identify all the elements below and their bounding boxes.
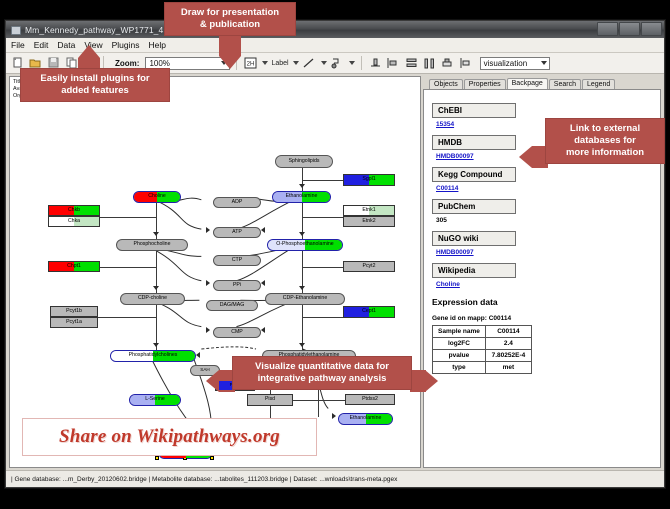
callout-links-arrow — [519, 146, 532, 168]
callout-viz-line2: integrative pathway analysis — [240, 373, 404, 385]
node-label: Pcyt2 — [363, 264, 376, 269]
node-label: Ptdss2 — [362, 397, 378, 402]
node-label: Chkb — [68, 208, 80, 213]
reaction-arcs — [10, 77, 420, 467]
metabolite-node-adp[interactable]: ADP — [213, 197, 261, 208]
arrow-right-ppi — [206, 280, 210, 286]
expression-row-label: log2FC — [433, 338, 486, 350]
callout-links-line1: Link to external — [553, 123, 657, 135]
gene-node-ptdss2[interactable]: Ptdss2 — [345, 394, 395, 405]
callout-draw-stem — [219, 36, 241, 56]
expression-data-title: Expression data — [432, 297, 660, 307]
window-controls — [597, 22, 662, 36]
node-label: ADP — [232, 200, 243, 205]
shape-dropdown-icon[interactable] — [262, 61, 268, 65]
callout-plugins-arrow — [78, 45, 100, 58]
expression-row: pvalue7.80252E-4 — [433, 350, 532, 362]
metabolite-node-cdp-choline[interactable]: CDP-choline — [120, 293, 185, 305]
pathway-canvas-wrap[interactable]: Title: Availa Organi — [9, 76, 421, 468]
metabolite-node-atp[interactable]: ATP — [213, 227, 261, 238]
tab-objects[interactable]: Objects — [429, 79, 463, 89]
visualization-value: visualization — [484, 59, 528, 68]
expression-row-label: type — [433, 362, 486, 374]
callout-links-line2: databases for — [553, 135, 657, 147]
tab-backpage[interactable]: Backpage — [507, 78, 548, 89]
edge-etnk-line — [302, 217, 344, 218]
edge-cept1-line — [302, 317, 344, 318]
menu-data[interactable]: Data — [57, 40, 75, 50]
metabolite-node-cdp-ethanolamine[interactable]: CDP-Ethanolamine — [265, 293, 345, 305]
arrow-left-cmp-e — [261, 327, 265, 333]
expression-row: typemet — [433, 362, 532, 374]
metabolite-node-ppi[interactable]: PPi — [213, 280, 261, 291]
node-label: CDP-Ethanolamine — [283, 296, 327, 301]
visualization-combo[interactable]: visualization — [480, 57, 550, 70]
metabolite-node-sphingolipids[interactable]: Sphingolipids — [275, 155, 333, 168]
callout-viz-stem-right — [410, 370, 426, 392]
node-label: Ethanolamine — [286, 194, 318, 199]
node-label: CTP — [232, 258, 242, 263]
node-label: Cept1 — [362, 309, 376, 314]
node-label: Phosphocholine — [134, 242, 171, 247]
gene-node-pcyt2[interactable]: Pcyt2 — [343, 261, 395, 272]
edge-sgpl1-line — [302, 180, 344, 181]
expression-row: log2FC2.4 — [433, 338, 532, 350]
edge-ptdss2-line — [293, 400, 345, 401]
node-label: L-Serine — [145, 397, 165, 402]
callout-draw: Draw for presentation & publication — [164, 2, 296, 36]
toolbar-separator-3 — [361, 56, 362, 70]
gene-node-etnk1[interactable]: Etnk1 — [343, 205, 395, 216]
distribute-horizontal-icon[interactable] — [422, 56, 437, 71]
callout-viz-line1: Visualize quantitative data for — [240, 361, 404, 373]
expression-row: Sample nameC00114 — [433, 326, 532, 338]
db-value-pubchem: 305 — [436, 217, 660, 224]
node-label: Sphingolipids — [289, 159, 320, 164]
metabolite-node-phosphocholine[interactable]: Phosphocholine — [116, 239, 188, 251]
node-label: Etnk2 — [362, 219, 375, 224]
db-header-chebi: ChEBI — [432, 103, 516, 118]
edge-chpt1-line — [100, 267, 157, 268]
label-tool-label[interactable]: Label — [271, 60, 288, 67]
node-label: Pcyt1a — [66, 320, 82, 325]
menubar: File Edit Data View Plugins Help — [6, 38, 664, 53]
arrow-left-ppi-e — [261, 280, 265, 286]
expression-table: Sample nameC00114log2FC2.4pvalue7.80252E… — [432, 325, 532, 374]
menu-file[interactable]: File — [11, 40, 25, 50]
statusbar-text: | Gene database: ...m_Derby_20120602.bri… — [11, 476, 397, 483]
arrow-right-atp — [206, 227, 210, 233]
gene-node-chpt1[interactable]: Chpt1 — [48, 261, 100, 272]
db-header-pubchem: PubChem — [432, 199, 516, 214]
node-label: Chka — [68, 219, 80, 224]
arrow-left-atp-e — [261, 227, 265, 233]
callout-draw-line1: Draw for presentation — [172, 7, 288, 19]
callout-links-line3: more information — [553, 147, 657, 159]
svg-text:2H: 2H — [247, 62, 255, 68]
expression-row-value: C00114 — [485, 326, 531, 338]
expression-row-label: pvalue — [433, 350, 486, 362]
screenshot-root: Mm_Kennedy_pathway_WP1771_45176.gpml Fil… — [0, 0, 670, 509]
gene-node-chkb[interactable]: Chkb — [48, 205, 100, 216]
metabolite-node-phosphatidylcholines[interactable]: Phosphatidylcholines — [110, 350, 196, 362]
metabolite-node-cmp[interactable]: CMP — [213, 327, 261, 338]
arrow-left-pemt — [196, 352, 200, 358]
align-top-icon[interactable] — [368, 56, 383, 71]
arrow-down-7 — [299, 343, 305, 347]
line-dropdown-icon[interactable] — [321, 61, 327, 65]
gene-node-chka[interactable]: Chka — [48, 216, 100, 227]
expression-row-value: 2.4 — [485, 338, 531, 350]
zoom-label: Zoom: — [115, 59, 139, 68]
metabolite-node-dag-mag[interactable]: DAG/MAG — [206, 300, 258, 311]
edge-pcyt2-line — [302, 267, 344, 268]
callout-draw-arrow — [219, 56, 241, 69]
close-button[interactable] — [641, 22, 662, 36]
pathway-canvas[interactable]: Title: Availa Organi — [10, 77, 420, 467]
callout-viz-arrow-right — [425, 370, 438, 392]
anchor-tool-icon[interactable] — [330, 56, 345, 71]
menu-help[interactable]: Help — [149, 40, 166, 50]
node-label: CDP-choline — [138, 296, 167, 301]
callout-share-text: Share on Wikipathways.org — [59, 426, 280, 448]
callout-plugins: Easily install plugins for added feature… — [20, 68, 170, 102]
db-value-wikipedia[interactable]: Choline — [436, 281, 660, 288]
edge-pcyt1-line — [98, 317, 157, 318]
callout-plugins-line1: Easily install plugins for — [28, 73, 162, 85]
node-label: Pisd — [265, 397, 275, 402]
chevron-down-icon-2 — [541, 61, 547, 65]
edge-chk-line — [100, 217, 157, 218]
expression-row-value: 7.80252E-4 — [485, 350, 531, 362]
arrow-down-1 — [153, 232, 159, 236]
arrow-down-5 — [299, 232, 305, 236]
shape-tool-icon[interactable]: 2H — [243, 56, 258, 71]
distribute-vertical-icon[interactable] — [404, 56, 419, 71]
db-header-kegg-compound: Kegg Compound — [432, 167, 516, 182]
side-panel-tabs: Objects Properties Backpage Search Legen… — [423, 76, 661, 89]
arrow-down-6 — [299, 286, 305, 290]
zoom-value: 100% — [149, 59, 169, 68]
tab-legend[interactable]: Legend — [582, 79, 615, 89]
statusbar: | Gene database: ...m_Derby_20120602.bri… — [6, 470, 664, 487]
node-label: Chpt1 — [67, 264, 81, 269]
minimize-button[interactable] — [597, 22, 618, 36]
order-icon[interactable] — [458, 56, 473, 71]
menu-edit[interactable]: Edit — [34, 40, 49, 50]
expression-row-label: Sample name — [433, 326, 486, 338]
arrow-right-etn2 — [332, 413, 336, 419]
gene-node-pisd[interactable]: Pisd — [247, 394, 293, 406]
arrow-down-4 — [299, 184, 305, 188]
arrow-down-3 — [153, 343, 159, 347]
gene-node-pcyt1a[interactable]: Pcyt1a — [50, 317, 98, 328]
node-label: Etnk1 — [362, 208, 375, 213]
node-label: DAG/MAG — [220, 303, 245, 308]
metabolite-node-ethanolamine[interactable]: Ethanolamine — [272, 191, 331, 203]
db-header-hmdb: HMDB — [432, 135, 516, 150]
align-left-icon[interactable] — [386, 56, 401, 71]
node-label: O-Phosphoethanolamine — [276, 242, 333, 247]
window-titlebar: Mm_Kennedy_pathway_WP1771_45176.gpml — [6, 21, 664, 38]
gene-node-pcyt1b[interactable]: Pcyt1b — [50, 306, 98, 317]
gene-id-label: Gene id on mapp: C00114 — [432, 315, 660, 322]
node-label: Pcyt1b — [66, 309, 82, 314]
metabolite-node-l-serine[interactable]: L-Serine — [129, 394, 181, 406]
arrow-down-2 — [153, 286, 159, 290]
node-label: PPi — [233, 283, 241, 288]
tab-properties[interactable]: Properties — [464, 79, 506, 89]
gene-node-etnk2[interactable]: Etnk2 — [343, 216, 395, 227]
node-label: ATP — [232, 230, 242, 235]
callout-links: Link to external databases for more info… — [545, 118, 665, 164]
db-value-nugo-wiki[interactable]: HMDB00097 — [436, 249, 660, 256]
maximize-button[interactable] — [619, 22, 640, 36]
node-label: CMP — [231, 330, 243, 335]
node-label: Sgpl1 — [362, 177, 375, 182]
tab-search[interactable]: Search — [549, 79, 581, 89]
expression-row-value: met — [485, 362, 531, 374]
metabolite-node-choline[interactable]: Choline — [133, 191, 181, 203]
arrow-right-cmp — [206, 327, 210, 333]
db-value-kegg-compound[interactable]: C00114 — [436, 185, 660, 192]
callout-share: Share on Wikipathways.org — [22, 418, 317, 456]
callout-viz-arrow-left — [206, 370, 219, 392]
stack-icon[interactable] — [440, 56, 455, 71]
callout-plugins-line2: added features — [28, 85, 162, 97]
gene-node-sgpl1[interactable]: Sgpl1 — [343, 174, 395, 186]
metabolite-node-ctp[interactable]: CTP — [213, 255, 261, 266]
menu-plugins[interactable]: Plugins — [112, 40, 140, 50]
node-label: Choline — [148, 194, 166, 199]
callout-draw-line2: & publication — [172, 19, 288, 31]
line-tool-icon[interactable] — [302, 56, 317, 71]
metabolite-node-o-phosphoethanolamine[interactable]: O-Phosphoethanolamine — [267, 239, 343, 251]
app-icon — [10, 24, 21, 35]
gene-node-cept1[interactable]: Cept1 — [343, 306, 395, 318]
node-label: Ethanolamine — [350, 416, 382, 421]
db-header-wikipedia: Wikipedia — [432, 263, 516, 278]
callout-visualize: Visualize quantitative data for integrat… — [232, 356, 412, 390]
label-dropdown-icon[interactable] — [293, 61, 299, 65]
db-header-nugo-wiki: NuGO wiki — [432, 231, 516, 246]
metabolite-node-ethanolamine[interactable]: Ethanolamine — [338, 413, 393, 425]
node-label: Phosphatidylcholines — [129, 353, 178, 358]
anchor-dropdown-icon[interactable] — [349, 61, 355, 65]
